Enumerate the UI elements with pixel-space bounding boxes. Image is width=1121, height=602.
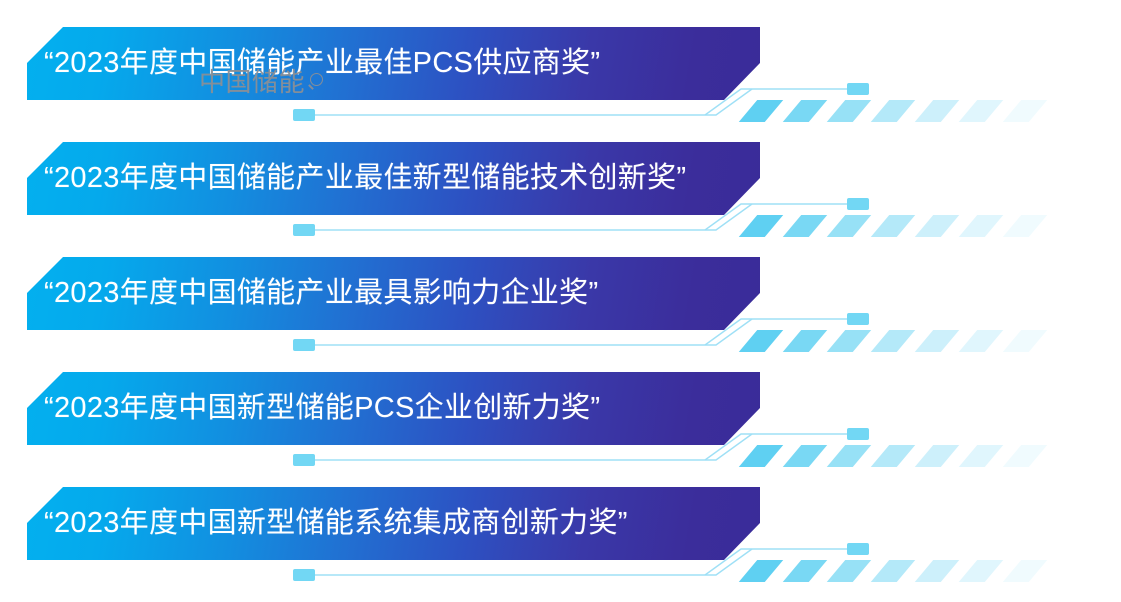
watermark-overlay: 中国储能 <box>199 65 327 99</box>
award-banner-pcs-supplier[interactable]: “2023年度中国储能产业最佳PCS供应商奖”中国储能 <box>0 27 1121 142</box>
decoration-stripe <box>739 330 783 352</box>
decoration-node-lower <box>293 109 315 121</box>
decoration-stripe <box>915 330 959 352</box>
decoration-stripe <box>827 330 871 352</box>
decoration-stripes <box>748 215 1078 237</box>
decoration-stripe <box>739 445 783 467</box>
decoration-stripe <box>959 330 1003 352</box>
decoration-stripe <box>959 215 1003 237</box>
award-banner-shape <box>27 142 760 215</box>
decoration-stripe <box>959 560 1003 582</box>
decoration-node-lower <box>293 454 315 466</box>
decoration-stripe <box>783 560 827 582</box>
decoration-node-upper <box>847 83 869 95</box>
decoration-stripes <box>748 330 1078 352</box>
decoration-stripe <box>871 100 915 122</box>
decoration-stripe <box>1003 445 1047 467</box>
award-banner-pcs-innovation[interactable]: “2023年度中国新型储能PCS企业创新力奖” <box>0 372 1121 487</box>
decoration-node-upper <box>847 198 869 210</box>
decoration-stripe <box>827 560 871 582</box>
decoration-stripe <box>827 445 871 467</box>
decoration-stripe <box>871 560 915 582</box>
decoration-node-lower <box>293 569 315 581</box>
decoration-stripes <box>748 445 1078 467</box>
decoration-stripe <box>783 215 827 237</box>
decoration-stripe <box>739 100 783 122</box>
watermark-text: 中国储能 <box>199 67 305 97</box>
decoration-stripe <box>915 100 959 122</box>
award-banner-tech-innovation[interactable]: “2023年度中国储能产业最佳新型储能技术创新奖” <box>0 142 1121 257</box>
decoration-stripe <box>871 215 915 237</box>
decoration-stripe <box>827 100 871 122</box>
decoration-stripe <box>959 100 1003 122</box>
decoration-stripe <box>739 215 783 237</box>
award-banner-shape <box>27 487 760 560</box>
decoration-stripe <box>1003 215 1047 237</box>
decoration-stripe <box>915 560 959 582</box>
decoration-stripe <box>1003 330 1047 352</box>
award-banner-shape <box>27 372 760 445</box>
decoration-node-upper <box>847 543 869 555</box>
award-banner-system-integrator[interactable]: “2023年度中国新型储能系统集成商创新力奖” <box>0 487 1121 602</box>
decoration-stripe <box>1003 560 1047 582</box>
award-banner-shape <box>27 257 760 330</box>
decoration-node-lower <box>293 339 315 351</box>
award-banner-shape <box>27 27 760 100</box>
decoration-stripe <box>871 445 915 467</box>
decoration-stripe <box>1003 100 1047 122</box>
decoration-stripes <box>748 100 1078 122</box>
decoration-node-upper <box>847 428 869 440</box>
decoration-stripe <box>783 445 827 467</box>
decoration-node-upper <box>847 313 869 325</box>
decoration-stripe <box>915 215 959 237</box>
decoration-stripes <box>748 560 1078 582</box>
decoration-stripe <box>783 330 827 352</box>
decoration-stripe <box>915 445 959 467</box>
decoration-stripe <box>783 100 827 122</box>
decoration-stripe <box>959 445 1003 467</box>
decoration-stripe <box>827 215 871 237</box>
magnifier-icon <box>307 73 327 93</box>
decoration-stripe <box>871 330 915 352</box>
decoration-stripe <box>739 560 783 582</box>
awards-poster: “2023年度中国储能产业最佳PCS供应商奖”中国储能“2023年度中国储能产业… <box>0 0 1121 591</box>
award-banner-most-influential[interactable]: “2023年度中国储能产业最具影响力企业奖” <box>0 257 1121 372</box>
decoration-node-lower <box>293 224 315 236</box>
